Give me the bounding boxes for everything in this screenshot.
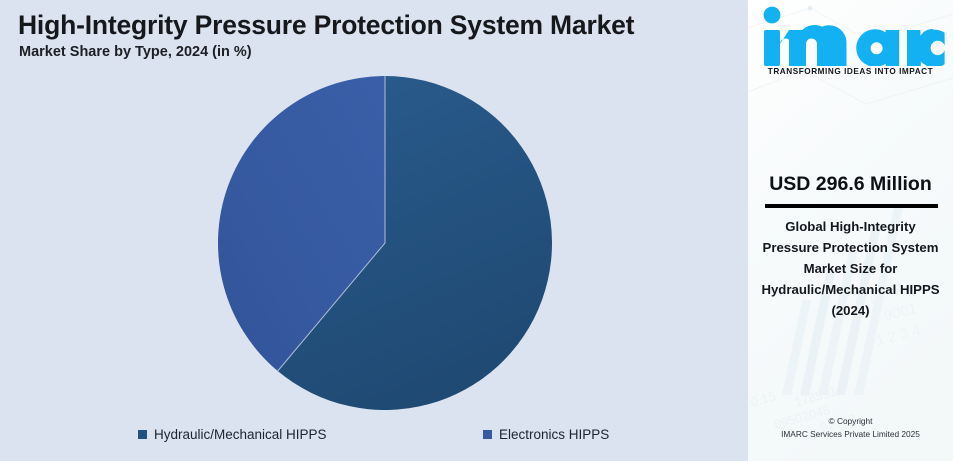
pie-chart: [218, 76, 552, 410]
imarc-logo: TRANSFORMING IDEAS INTO IMPACT: [748, 4, 953, 76]
legend-label: Electronics HIPPS: [499, 427, 609, 442]
chart-panel: High-Integrity Pressure Protection Syste…: [0, 0, 748, 461]
legend-label: Hydraulic/Mechanical HIPPS: [154, 427, 327, 442]
chart-legend: Hydraulic/Mechanical HIPPS Electronics H…: [0, 424, 748, 450]
page-title: High-Integrity Pressure Protection Syste…: [18, 10, 634, 41]
svg-text:1 2 3 4: 1 2 3 4: [874, 322, 923, 350]
headline-divider: [765, 204, 938, 208]
copyright-line-1: © Copyright: [748, 415, 953, 428]
pie-chart-svg: [218, 76, 552, 410]
svg-text:0.15: 0.15: [749, 388, 777, 409]
legend-swatch-icon: [483, 430, 492, 439]
market-value-headline: USD 296.6 Million: [748, 173, 953, 196]
copyright-notice: © Copyright IMARC Services Private Limit…: [748, 415, 953, 441]
chart-subtitle: Market Share by Type, 2024 (in %): [19, 44, 252, 60]
market-value-description: Global High-Integrity Pressure Protectio…: [758, 216, 943, 321]
pie-slices: [218, 76, 552, 410]
svg-text:1785914: 1785914: [793, 381, 846, 409]
chart-screenshot: High-Integrity Pressure Protection Syste…: [0, 0, 953, 461]
copyright-line-2: IMARC Services Private Limited 2025: [748, 428, 953, 441]
logo-tagline: TRANSFORMING IDEAS INTO IMPACT: [748, 67, 953, 76]
legend-swatch-icon: [138, 430, 147, 439]
imarc-wordmark-icon: [757, 4, 945, 66]
legend-item-electronics-hipps[interactable]: Electronics HIPPS: [483, 427, 609, 442]
legend-item-hydraulic-mechanical-hipps[interactable]: Hydraulic/Mechanical HIPPS: [138, 427, 327, 442]
brand-panel: 0.15 1785914 89502048 92768 0.0 9001 1 2…: [748, 0, 953, 461]
